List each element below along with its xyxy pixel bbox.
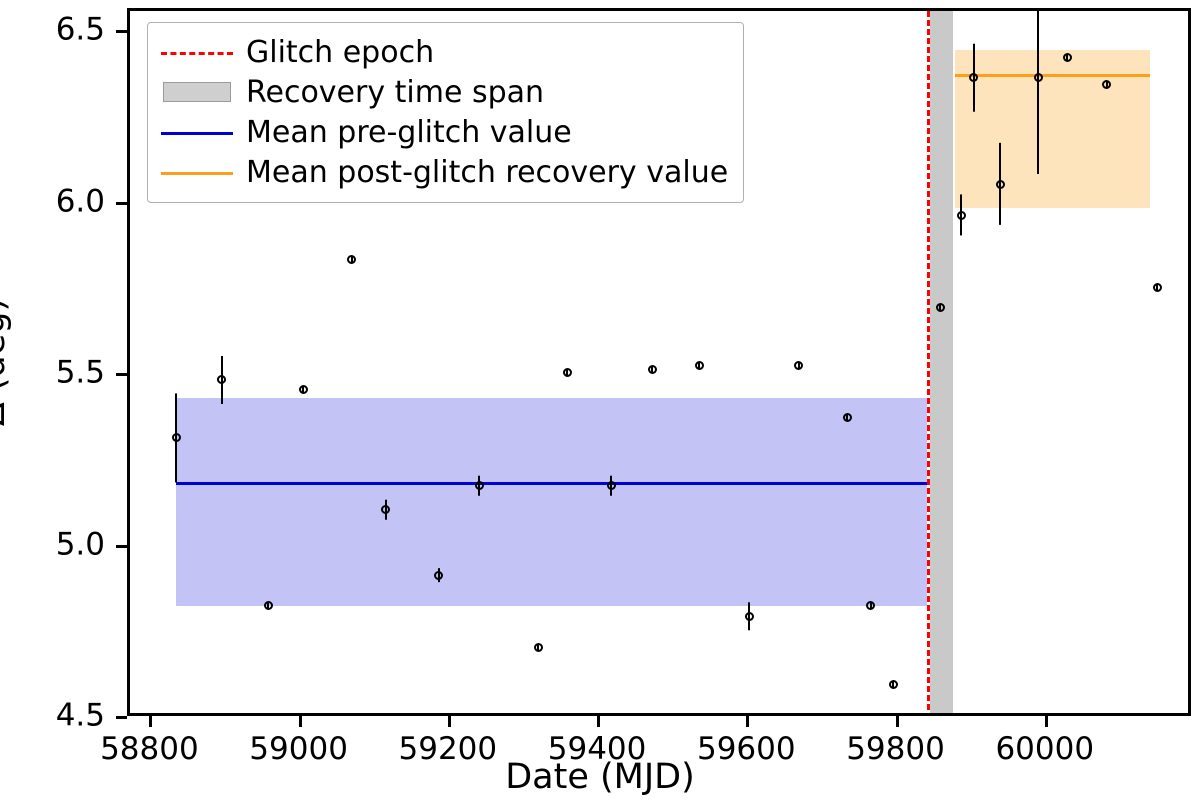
y-tick-label: 6.5: [56, 15, 105, 46]
data-point-marker: [563, 368, 572, 377]
y-tick: [116, 716, 127, 719]
x-axis-label: Date (MJD): [0, 757, 1200, 797]
x-tick: [299, 716, 302, 727]
data-point-marker: [434, 571, 443, 580]
legend-key-blue-line-icon: [161, 120, 233, 144]
data-point-marker: [381, 505, 390, 514]
x-tick: [1045, 716, 1048, 727]
pre-glitch-mean-line: [176, 482, 927, 485]
data-point-marker: [745, 612, 754, 621]
y-tick-label: 5.0: [56, 529, 105, 560]
pre-glitch-sigma-band: [176, 398, 927, 606]
y-tick: [116, 202, 127, 205]
legend-key-dashed-line-icon: [161, 40, 233, 64]
recovery-time-span-band: [930, 11, 953, 716]
data-point-marker: [996, 180, 1005, 189]
glitch-epoch-line: [927, 11, 930, 716]
y-tick-label: 4.5: [56, 701, 105, 732]
legend: Glitch epoch Recovery time span Mean pre…: [147, 22, 744, 203]
data-point-marker: [534, 643, 543, 652]
data-point-marker: [172, 433, 181, 442]
legend-label-post-glitch-mean: Mean post-glitch recovery value: [246, 155, 728, 190]
legend-item-recovery-span: Recovery time span: [161, 72, 728, 112]
post-glitch-mean-line: [955, 74, 1150, 77]
legend-key-patch-icon: [161, 80, 233, 104]
data-point-marker: [1153, 283, 1162, 292]
data-point-marker: [217, 375, 226, 384]
x-tick: [597, 716, 600, 727]
x-tick: [896, 716, 899, 727]
legend-key-orange-line-icon: [161, 160, 233, 184]
data-point-marker: [1063, 53, 1072, 62]
data-point-marker: [866, 601, 875, 610]
y-tick-label: 6.0: [56, 186, 105, 217]
legend-label-pre-glitch-mean: Mean pre-glitch value: [246, 115, 572, 150]
legend-label-glitch-epoch: Glitch epoch: [246, 35, 434, 70]
data-point-marker: [889, 680, 898, 689]
data-point-marker: [843, 413, 852, 422]
data-point-marker: [264, 601, 273, 610]
data-point-marker: [1102, 80, 1111, 89]
data-point-marker: [794, 361, 803, 370]
data-point-marker: [1034, 73, 1043, 82]
x-tick: [746, 716, 749, 727]
legend-item-post-glitch-mean: Mean post-glitch recovery value: [161, 152, 728, 192]
y-tick: [116, 30, 127, 33]
legend-item-glitch-epoch: Glitch epoch: [161, 32, 728, 72]
y-tick-label: 5.5: [56, 358, 105, 389]
legend-label-recovery-span: Recovery time span: [246, 75, 544, 110]
x-tick: [149, 716, 152, 727]
data-point-marker: [936, 303, 945, 312]
y-tick: [116, 373, 127, 376]
data-point-marker: [648, 365, 657, 374]
data-point-marker: [299, 385, 308, 394]
legend-item-pre-glitch-mean: Mean pre-glitch value: [161, 112, 728, 152]
data-point-marker: [607, 481, 616, 490]
y-tick: [116, 545, 127, 548]
data-point-marker: [957, 211, 966, 220]
y-axis-label: Δ (deg): [0, 298, 13, 426]
error-bar: [1037, 8, 1039, 174]
data-point-marker: [475, 481, 484, 490]
data-point-marker: [969, 73, 978, 82]
data-point-marker: [695, 361, 704, 370]
data-point-marker: [347, 255, 356, 264]
figure-canvas: 58800590005920059400596005980060000 4.55…: [0, 0, 1200, 804]
x-tick: [448, 716, 451, 727]
